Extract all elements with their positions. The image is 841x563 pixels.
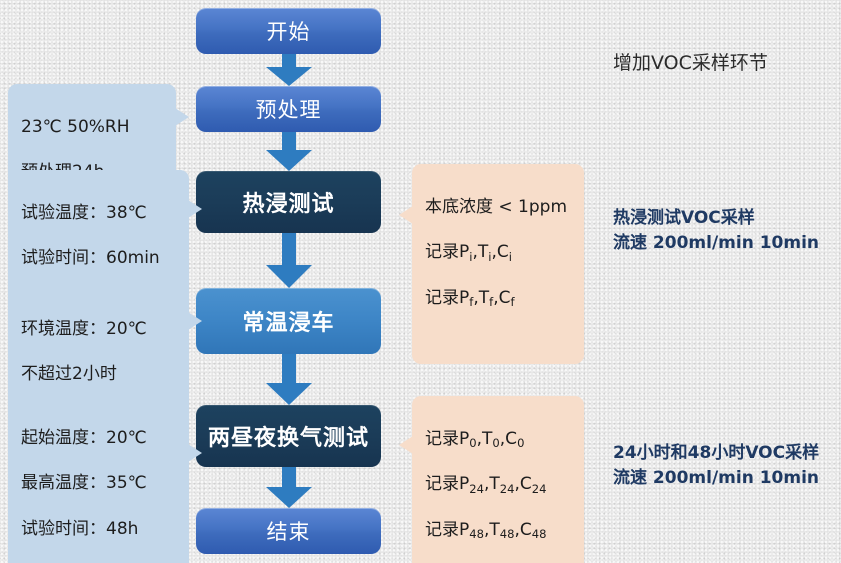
note-hotsoak-voc-sampling: 热浸测试VOC采样 流速 200ml/min 10min (613, 180, 819, 257)
callout-hotsoak-line-2: 试验时间：60min (21, 247, 177, 270)
callout-hotsoak-measure-line-3: 记录Pf,Tf,Cf (425, 287, 572, 310)
callout-ventilation-measure-line-1: 记录P0,T0,C0 (425, 428, 572, 451)
callout-tail-icon (188, 200, 202, 218)
callout-hotsoak-measure-line-2: 记录Pi,Ti,Ci (425, 241, 572, 264)
callout-hotsoak-measure-line-1: 本底浓度 < 1ppm (425, 196, 572, 219)
callout-tail-icon (188, 444, 202, 462)
flow-node-start[interactable]: 开始 (196, 8, 381, 54)
callout-ventilation-line-1: 起始温度：20℃ (21, 427, 177, 450)
flow-node-pretreatment-label: 预处理 (256, 94, 322, 124)
callout-ventilation-line-2: 最高温度：35℃ (21, 472, 177, 495)
callout-ventilation-measurements: 记录P0,T0,C0 记录P24,T24,C24 记录P48,T48,C48 (412, 396, 584, 563)
arrow-pretreatment-to-hotsoak (266, 132, 312, 171)
callout-hotsoak-line-1: 试验温度：38℃ (21, 202, 177, 225)
flow-node-two-day-ventilation-test-label: 两昼夜换气测试 (208, 420, 369, 452)
arrow-ventilation-to-end (266, 467, 312, 508)
flow-node-two-day-ventilation-test[interactable]: 两昼夜换气测试 (196, 405, 381, 467)
flow-node-end-label: 结束 (267, 516, 311, 546)
flow-node-ambient-soak[interactable]: 常温浸车 (196, 288, 381, 354)
flowchart-canvas: 增加VOC采样环节 开始 预处理 热浸测试 常温浸车 两昼夜换气测试 结束 (0, 0, 841, 563)
callout-tail-icon (188, 312, 202, 330)
callout-ventilation-line-3: 试验时间：48h (21, 518, 177, 541)
flow-node-hot-soak-test[interactable]: 热浸测试 (196, 171, 381, 233)
arrow-hotsoak-to-ambientsoak (266, 233, 312, 288)
note-hotsoak-line-2: 流速 200ml/min 10min (613, 233, 819, 253)
callout-tail-icon (175, 108, 189, 126)
note-ventilation-line-1: 24小时和48小时VOC采样 (613, 443, 819, 463)
callout-tail-icon (399, 436, 413, 454)
arrow-start-to-pretreatment (266, 54, 312, 86)
callout-ventilation-conditions: 起始温度：20℃ 最高温度：35℃ 试验时间：48h (8, 395, 189, 563)
note-hotsoak-line-1: 热浸测试VOC采样 (613, 208, 755, 228)
note-ventilation-voc-sampling: 24小时和48小时VOC采样 流速 200ml/min 10min (613, 415, 819, 492)
callout-pretreatment-line-1: 23℃ 50%RH (21, 116, 164, 139)
arrow-ambientsoak-to-ventilation (266, 354, 312, 405)
flow-node-hot-soak-test-label: 热浸测试 (242, 186, 334, 218)
flow-node-end[interactable]: 结束 (196, 508, 381, 554)
callout-ambientsoak-line-2: 不超过2小时 (21, 363, 177, 386)
note-ventilation-line-2: 流速 200ml/min 10min (613, 468, 819, 488)
callout-tail-icon (399, 206, 413, 224)
headline-text: 增加VOC采样环节 (613, 48, 768, 75)
flow-node-ambient-soak-label: 常温浸车 (242, 305, 334, 337)
callout-ventilation-measure-line-3: 记录P48,T48,C48 (425, 519, 572, 542)
flow-node-pretreatment[interactable]: 预处理 (196, 86, 381, 132)
flow-node-start-label: 开始 (267, 16, 311, 46)
callout-ventilation-measure-line-2: 记录P24,T24,C24 (425, 473, 572, 496)
callout-ambientsoak-line-1: 环境温度：20℃ (21, 318, 177, 341)
callout-hotsoak-measurements: 本底浓度 < 1ppm 记录Pi,Ti,Ci 记录Pf,Tf,Cf (412, 164, 584, 364)
